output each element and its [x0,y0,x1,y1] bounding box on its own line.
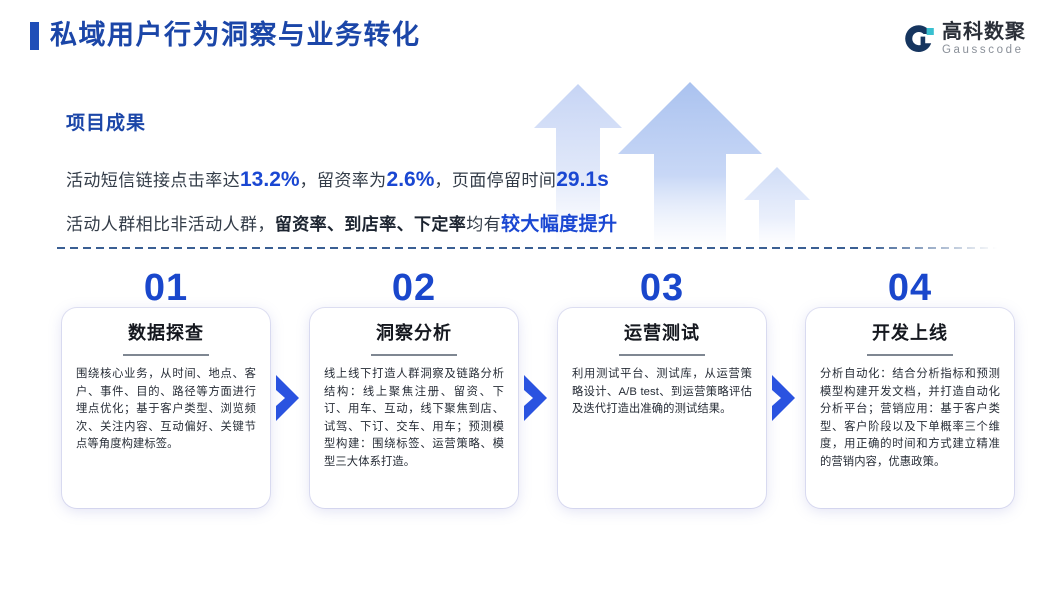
results-line-2: 活动人群相比非活动人群，留资率、到店率、下定率均有较大幅度提升 [66,203,766,247]
logo-wordmark: 高科数聚 Gausscode [942,22,1026,57]
step-title: 开发上线 [820,321,1000,345]
step-card[interactable]: 洞察分析 线上线下打造人群洞察及链路分析结构：线上聚焦注册、留资、下订、用车、互… [310,308,518,508]
step-number: 02 [310,268,518,308]
process-step-01[interactable]: 01 数据探查 围绕核心业务，从时间、地点、客户、事件、目的、路径等方面进行埋点… [62,268,270,518]
chevron-right-icon [520,374,550,422]
step-number: 03 [558,268,766,308]
chevron-right-icon [768,374,798,422]
step-description: 利用测试平台、测试库，从运营策略设计、A/B test、到运营策略评估及迭代打造… [572,366,752,419]
step-card[interactable]: 开发上线 分析自动化：结合分析指标和预测模型构建开发文档，并打造自动化分析平台；… [806,308,1014,508]
logo-name-cn: 高科数聚 [942,22,1026,42]
results-metric-list: 留资率、到店率、下定率 [275,215,466,234]
results-uplift-emphasis: 较大幅度提升 [501,214,617,235]
section-divider [57,247,997,249]
project-results-section: 项目成果 活动短信链接点击率达13.2%，留资率为2.6%，页面停留时间29.1… [66,112,766,247]
step-number: 01 [62,268,270,308]
step-card[interactable]: 运营测试 利用测试平台、测试库，从运营策略设计、A/B test、到运营策略评估… [558,308,766,508]
step-description: 线上线下打造人群洞察及链路分析结构：线上聚焦注册、留资、下订、用车、互动，线下聚… [324,366,504,471]
lead-rate-value: 2.6% [387,168,435,191]
results-line1-text1: 活动短信链接点击率达 [66,171,240,190]
process-steps: 01 数据探查 围绕核心业务，从时间、地点、客户、事件、目的、路径等方面进行埋点… [0,268,1048,518]
step-title: 数据探查 [76,321,256,345]
step-title-rule [371,354,457,356]
logo-name-en: Gausscode [942,45,1026,57]
step-description: 围绕核心业务，从时间、地点、客户、事件、目的、路径等方面进行埋点优化；基于客户类… [76,366,256,454]
step-title: 运营测试 [572,321,752,345]
results-line-1: 活动短信链接点击率达13.2%，留资率为2.6%，页面停留时间29.1s [66,158,766,203]
step-number: 04 [806,268,1014,308]
step-description: 分析自动化：结合分析指标和预测模型构建开发文档，并打造自动化分析平台；营销应用：… [820,366,1000,471]
results-heading: 项目成果 [66,112,766,136]
results-line1-text2: ，留资率为 [300,171,387,190]
step-title-rule [619,354,705,356]
company-logo: 高科数聚 Gausscode [901,16,1026,62]
process-step-04[interactable]: 04 开发上线 分析自动化：结合分析指标和预测模型构建开发文档，并打造自动化分析… [806,268,1014,518]
results-line2-text2: 均有 [466,215,501,234]
step-title: 洞察分析 [324,321,504,345]
title-bullet-icon [30,22,39,50]
results-line1-text3: ，页面停留时间 [434,171,556,190]
slide-canvas: 私域用户行为洞察与业务转化 高科数聚 Gausscode [0,0,1048,591]
page-title: 私域用户行为洞察与业务转化 [50,17,421,53]
results-line2-text1: 活动人群相比非活动人群， [66,215,275,234]
dwell-time-value: 29.1s [556,168,609,191]
step-card[interactable]: 数据探查 围绕核心业务，从时间、地点、客户、事件、目的、路径等方面进行埋点优化；… [62,308,270,508]
process-step-02[interactable]: 02 洞察分析 线上线下打造人群洞察及链路分析结构：线上聚焦注册、留资、下订、用… [310,268,518,518]
process-step-03[interactable]: 03 运营测试 利用测试平台、测试库，从运营策略设计、A/B test、到运营策… [558,268,766,518]
ctr-value: 13.2% [240,168,300,191]
chevron-right-icon [272,374,302,422]
step-title-rule [123,354,209,356]
step-title-rule [867,354,953,356]
gausscode-logo-icon [901,22,935,56]
slide-header: 私域用户行为洞察与业务转化 高科数聚 Gausscode [0,0,1048,78]
